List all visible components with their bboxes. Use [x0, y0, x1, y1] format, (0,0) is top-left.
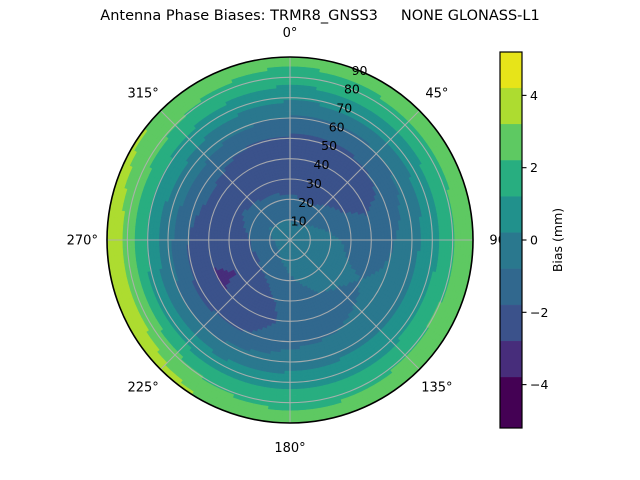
colorbar-band-0 [500, 52, 522, 88]
colorbar-tick-label: −2 [530, 305, 548, 320]
colorbar-tick-label: 2 [530, 160, 538, 175]
colorbar-band-5 [500, 233, 522, 269]
colorbar-band-3 [500, 160, 522, 196]
colorbar-band-6 [500, 269, 522, 305]
colorbar-bands [500, 52, 522, 428]
colorbar-band-8 [500, 341, 522, 377]
figure-canvas: Antenna Phase Biases: TRMR8_GNSS3 NONE G… [0, 0, 640, 480]
colorbar-tick-label: 4 [530, 88, 538, 103]
colorbar-band-1 [500, 88, 522, 124]
colorbar-band-2 [500, 124, 522, 160]
colorbar-axis-label: Bias (mm) [550, 208, 565, 272]
colorbar-tick-label: −4 [530, 377, 548, 392]
colorbar-band-9 [500, 377, 522, 428]
colorbar-ticks: 420−2−4 [522, 88, 548, 392]
colorbar-band-7 [500, 305, 522, 341]
colorbar-band-4 [500, 197, 522, 233]
colorbar-tick-label: 0 [530, 233, 538, 248]
colorbar: 420−2−4 Bias (mm) [0, 0, 640, 480]
